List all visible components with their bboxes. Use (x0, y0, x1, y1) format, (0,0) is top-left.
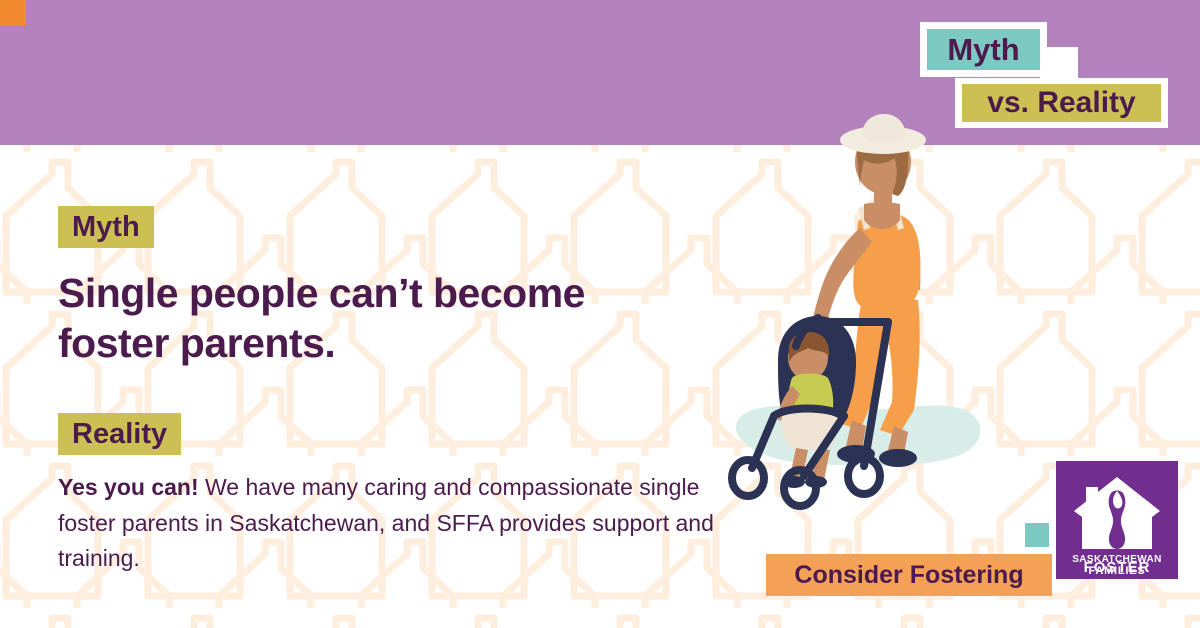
orange-accent-square (0, 0, 26, 26)
reality-body: Yes you can! We have many caring and com… (58, 470, 738, 577)
teal-accent-square (1025, 523, 1049, 547)
consider-fostering-button[interactable]: Consider Fostering (766, 554, 1052, 596)
myth-vs-reality-badge-group: Myth vs. Reality (0, 0, 26, 26)
myth-statement: Single people can’t become foster parent… (58, 268, 698, 368)
myth-badge-label: Myth (927, 29, 1040, 70)
poster-canvas: Fostering Myth vs. Reality (0, 0, 1200, 628)
woman-pushing-stroller-illustration (712, 110, 1012, 510)
sffa-logo[interactable]: SASKATCHEWAN FOSTER FAMILIES (1056, 461, 1178, 579)
reality-lead-text: Yes you can! (58, 474, 199, 500)
reality-tag: Reality (58, 413, 181, 455)
logo-line-families: FAMILIES (1088, 565, 1145, 577)
myth-tag: Myth (58, 206, 154, 248)
